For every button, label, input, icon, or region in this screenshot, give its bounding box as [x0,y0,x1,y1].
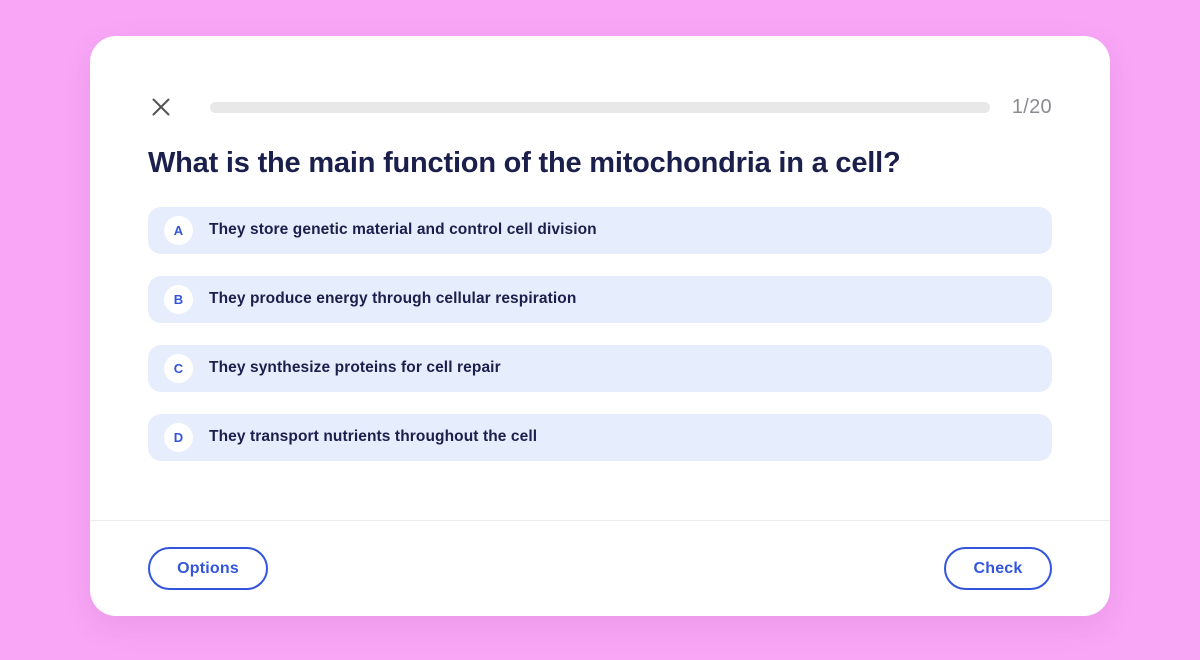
progress-bar [210,102,990,113]
question-counter: 1/20 [1012,96,1052,119]
option-letter-badge: B [164,285,193,314]
option-letter-badge: A [164,216,193,245]
option-label: They produce energy through cellular res… [209,290,576,308]
option-row-d[interactable]: D They transport nutrients throughout th… [148,414,1052,461]
option-letter-badge: D [164,423,193,452]
quiz-footer: Options Check [90,521,1110,616]
question-text: What is the main function of the mitocho… [90,120,1110,181]
quiz-header: 1/20 [90,36,1110,120]
option-letter-badge: C [164,354,193,383]
quiz-card: 1/20 What is the main function of the mi… [90,36,1110,616]
answer-options-list: A They store genetic material and contro… [90,181,1110,498]
page-background: 1/20 What is the main function of the mi… [0,0,1200,660]
option-row-a[interactable]: A They store genetic material and contro… [148,207,1052,254]
close-x-icon [150,96,172,118]
option-label: They transport nutrients throughout the … [209,428,537,446]
check-button[interactable]: Check [944,547,1052,590]
option-label: They store genetic material and control … [209,221,597,239]
close-icon[interactable] [148,94,174,120]
options-button[interactable]: Options [148,547,268,590]
option-row-c[interactable]: C They synthesize proteins for cell repa… [148,345,1052,392]
option-row-b[interactable]: B They produce energy through cellular r… [148,276,1052,323]
option-label: They synthesize proteins for cell repair [209,359,501,377]
